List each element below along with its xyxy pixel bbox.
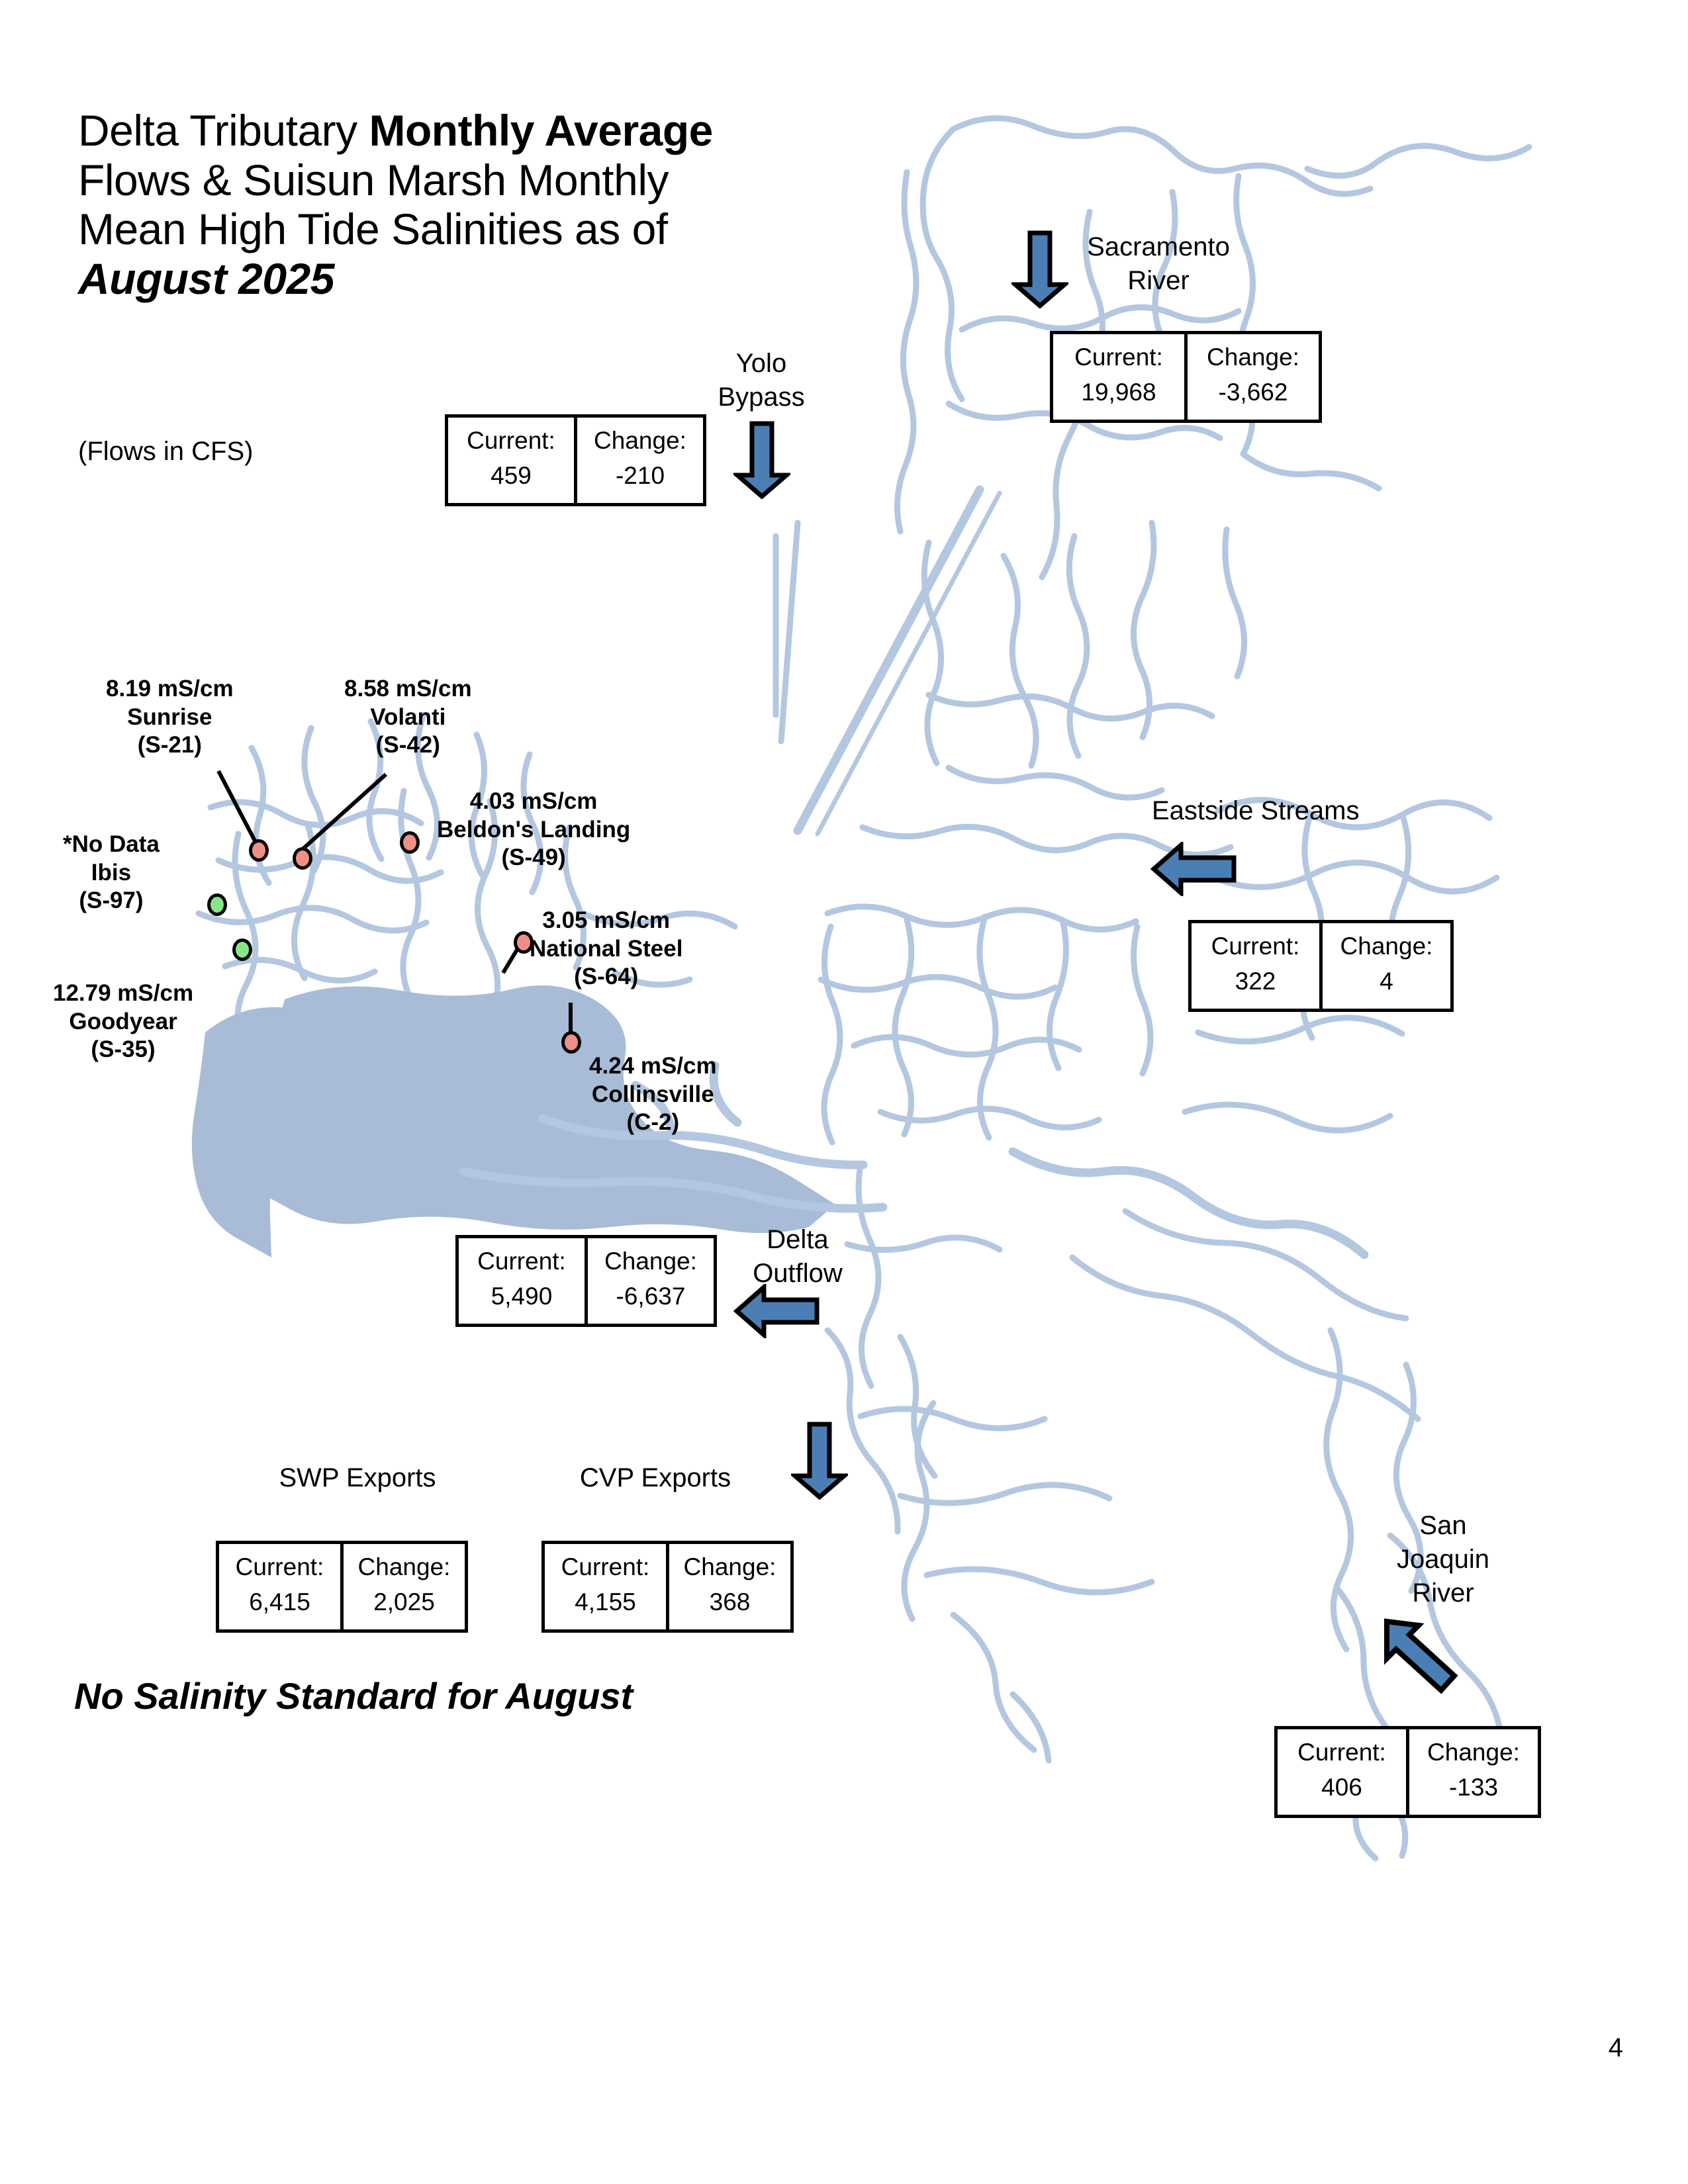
change-header: Change: xyxy=(684,1551,776,1584)
units-note: (Flows in CFS) xyxy=(78,437,253,467)
delta-map xyxy=(0,0,1688,2184)
flow-label-cvp-exports: CVP Exports xyxy=(569,1461,741,1495)
change-cell: Change: 4 xyxy=(1319,923,1450,1009)
change-header: Change: xyxy=(1207,341,1299,374)
data-box-delta-outflow: Current: 5,490 Change: -6,637 xyxy=(455,1235,717,1327)
salinity-code-beldon: (S-49) xyxy=(437,844,630,872)
station-marker-sunrise[interactable] xyxy=(249,839,269,862)
flow-label-line: Sacramento xyxy=(1072,230,1244,264)
title-line-2: Flows & Suisun Marsh Monthly xyxy=(78,156,820,205)
flow-label-line: SWP Exports xyxy=(271,1461,444,1495)
station-marker-ibis[interactable] xyxy=(207,893,227,916)
salinity-name-collinsville: Collinsville xyxy=(589,1081,717,1109)
salinity-value-national-steel: 3.05 mS/cm xyxy=(530,907,682,935)
current-cell: Current: 5,490 xyxy=(459,1238,585,1324)
current-header: Current: xyxy=(467,424,555,457)
salinity-label-sunrise: 8.19 mS/cm Sunrise (S-21) xyxy=(106,675,234,760)
salinity-label-national-steel: 3.05 mS/cm National Steel (S-64) xyxy=(530,907,682,991)
sacramento-river-arrow xyxy=(1011,230,1068,308)
current-header: Current: xyxy=(236,1551,324,1584)
salinity-value-goodyear: 12.79 mS/cm xyxy=(53,979,193,1008)
salinity-value-beldon: 4.03 mS/cm xyxy=(437,788,630,816)
current-header: Current: xyxy=(1074,341,1163,374)
salinity-label-volanti: 8.58 mS/cm Volanti (S-42) xyxy=(344,675,472,760)
salinity-label-ibis: *No Data Ibis (S-97) xyxy=(63,831,160,915)
change-header: Change: xyxy=(604,1245,697,1278)
salinity-label-goodyear: 12.79 mS/cm Goodyear (S-35) xyxy=(53,979,193,1064)
salinity-code-sunrise: (S-21) xyxy=(106,731,234,760)
flow-label-line: Joaquin xyxy=(1377,1543,1509,1576)
station-marker-collinsville[interactable] xyxy=(561,1031,581,1054)
current-value: 5,490 xyxy=(491,1278,553,1315)
current-header: Current: xyxy=(477,1245,566,1278)
salinity-label-collinsville: 4.24 mS/cm Collinsville (C-2) xyxy=(589,1052,717,1137)
eastside-streams-arrow xyxy=(1150,842,1237,896)
change-header: Change: xyxy=(358,1551,451,1584)
salinity-code-goodyear: (S-35) xyxy=(53,1036,193,1064)
change-header: Change: xyxy=(1340,930,1433,963)
current-cell: Current: 322 xyxy=(1192,923,1319,1009)
flow-label-line: Yolo xyxy=(695,347,827,381)
flow-label-line: Bypass xyxy=(695,381,827,414)
change-value: 4 xyxy=(1380,963,1393,1000)
salinity-label-beldon: 4.03 mS/cm Beldon's Landing (S-49) xyxy=(437,788,630,872)
salinity-value-collinsville: 4.24 mS/cm xyxy=(589,1052,717,1081)
current-header: Current: xyxy=(1211,930,1300,963)
current-header: Current: xyxy=(1297,1736,1386,1769)
current-value: 4,155 xyxy=(575,1584,636,1621)
flow-label-line: River xyxy=(1072,264,1244,298)
change-header: Change: xyxy=(1427,1736,1520,1769)
data-box-swp-exports: Current: 6,415 Change: 2,025 xyxy=(216,1541,468,1633)
salinity-value-sunrise: 8.19 mS/cm xyxy=(106,675,234,704)
salinity-name-beldon: Beldon's Landing xyxy=(437,816,630,844)
title-line-3: Mean High Tide Salinities as of xyxy=(78,205,820,254)
station-marker-goodyear[interactable] xyxy=(232,938,252,961)
change-cell: Change: 2,025 xyxy=(340,1544,465,1629)
flow-label-line: San xyxy=(1377,1509,1509,1543)
salinity-name-volanti: Volanti xyxy=(344,704,472,732)
current-cell: Current: 459 xyxy=(448,418,574,503)
current-value: 322 xyxy=(1235,963,1276,1000)
flow-label-line: Eastside Streams xyxy=(1152,794,1390,828)
change-cell: Change: -6,637 xyxy=(585,1238,714,1324)
change-value: -210 xyxy=(616,457,665,494)
suisun-bay-fill xyxy=(192,985,835,1257)
data-box-eastside-streams: Current: 322 Change: 4 xyxy=(1188,920,1454,1012)
station-marker-beldon[interactable] xyxy=(400,831,420,854)
page-title: Delta Tributary Monthly Average Flows & … xyxy=(78,106,820,303)
salinity-value-volanti: 8.58 mS/cm xyxy=(344,675,472,704)
salinity-name-national-steel: National Steel xyxy=(530,935,682,964)
change-value: 2,025 xyxy=(373,1584,435,1621)
change-value: -133 xyxy=(1449,1769,1498,1806)
flow-label-line: CVP Exports xyxy=(569,1461,741,1495)
change-value: -6,637 xyxy=(616,1278,686,1315)
station-marker-volanti[interactable] xyxy=(293,847,312,870)
flow-label-delta-outflow: Delta Outflow xyxy=(728,1223,867,1291)
data-box-cvp-exports: Current: 4,155 Change: 368 xyxy=(541,1541,794,1633)
current-header: Current: xyxy=(561,1551,650,1584)
data-box-san-joaquin-river: Current: 406 Change: -133 xyxy=(1274,1726,1541,1818)
flow-label-eastside-streams: Eastside Streams xyxy=(1152,794,1390,828)
flow-label-line: River xyxy=(1377,1576,1509,1610)
salinity-name-ibis: Ibis xyxy=(63,859,160,887)
flow-label-sacramento-river: Sacramento River xyxy=(1072,230,1244,298)
current-value: 459 xyxy=(491,457,532,494)
salinity-code-volanti: (S-42) xyxy=(344,731,472,760)
change-header: Change: xyxy=(594,424,686,457)
flow-label-yolo-bypass: Yolo Bypass xyxy=(695,347,827,414)
flow-label-san-joaquin-river: San Joaquin River xyxy=(1377,1509,1509,1611)
page-number: 4 xyxy=(1609,2033,1623,2063)
flow-label-swp-exports: SWP Exports xyxy=(271,1461,444,1495)
current-cell: Current: 4,155 xyxy=(545,1544,666,1629)
yolo-bypass-arrow xyxy=(733,421,790,499)
change-cell: Change: -210 xyxy=(574,418,703,503)
data-box-yolo-bypass: Current: 459 Change: -210 xyxy=(445,414,706,506)
salinity-name-sunrise: Sunrise xyxy=(106,704,234,732)
delta-outflow-arrow xyxy=(733,1284,820,1338)
salinity-value-ibis: *No Data xyxy=(63,831,160,859)
title-line-1: Delta Tributary Monthly Average xyxy=(78,106,820,156)
salinity-code-ibis: (S-97) xyxy=(63,887,160,915)
current-value: 406 xyxy=(1321,1769,1362,1806)
current-value: 19,968 xyxy=(1081,374,1156,411)
current-value: 6,415 xyxy=(249,1584,310,1621)
change-cell: Change: -133 xyxy=(1406,1729,1538,1815)
change-value: 368 xyxy=(710,1584,751,1621)
change-cell: Change: -3,662 xyxy=(1184,334,1319,420)
change-value: -3,662 xyxy=(1219,374,1288,411)
san-joaquin-river-arrow xyxy=(1380,1615,1463,1698)
change-cell: Change: 368 xyxy=(666,1544,790,1629)
current-cell: Current: 19,968 xyxy=(1053,334,1184,420)
flow-label-line: Delta xyxy=(728,1223,867,1257)
salinity-standard-note: No Salinity Standard for August xyxy=(74,1674,633,1717)
title-line-4-month: August 2025 xyxy=(78,254,820,304)
salinity-code-collinsville: (C-2) xyxy=(589,1109,717,1137)
current-cell: Current: 406 xyxy=(1278,1729,1406,1815)
data-box-sacramento-river: Current: 19,968 Change: -3,662 xyxy=(1050,331,1322,423)
current-cell: Current: 6,415 xyxy=(219,1544,340,1629)
salinity-code-national-steel: (S-64) xyxy=(530,963,682,991)
flow-label-line: Outflow xyxy=(728,1257,867,1291)
exports-arrow xyxy=(791,1422,848,1500)
salinity-name-goodyear: Goodyear xyxy=(53,1008,193,1036)
